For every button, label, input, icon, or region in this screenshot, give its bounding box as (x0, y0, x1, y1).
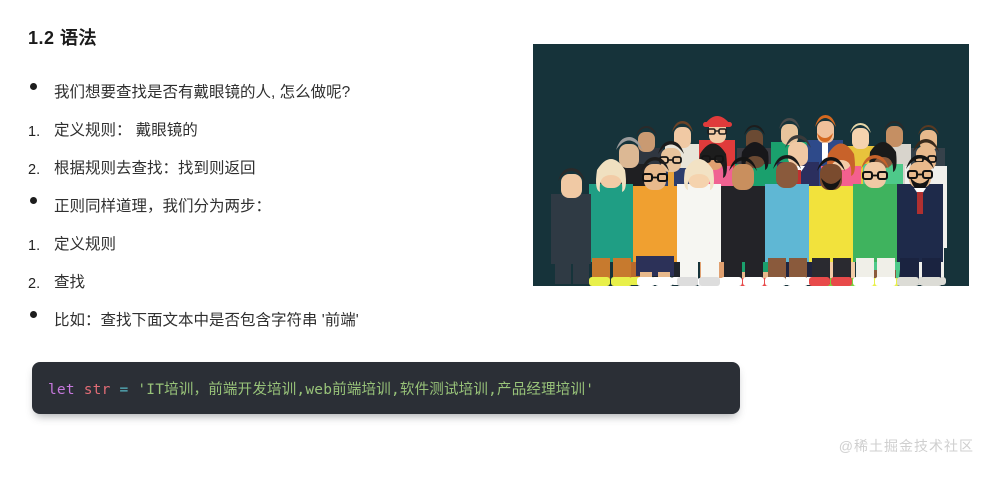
list-item-number: 2. (28, 272, 54, 295)
list-item-text: 比如：查找下面文本中是否包含字符串 '前端' (54, 310, 359, 332)
list-item: 1. 定义规则 (28, 234, 508, 272)
list-item-text: 正则同样道理，我们分为两步： (54, 196, 271, 218)
bullet-dot-icon (28, 196, 54, 204)
page-title: 1.2 语法 (28, 24, 97, 50)
list-item-text: 定义规则： 戴眼镜的 (54, 120, 198, 142)
list-item: 2. 查找 (28, 272, 508, 310)
list-item: 我们想要查找是否有戴眼镜的人, 怎么做呢? (28, 82, 508, 120)
code-token-space (128, 382, 137, 398)
list-item-text: 根据规则去查找：找到则返回 (54, 158, 256, 180)
crowd-illustration-svg (533, 44, 969, 286)
list-item: 2. 根据规则去查找：找到则返回 (28, 158, 508, 196)
list-item: 1. 定义规则： 戴眼镜的 (28, 120, 508, 158)
code-token-string: 'IT培训，前端开发培训,web前端培训,软件测试培训,产品经理培训' (137, 382, 594, 398)
list-item-text: 我们想要查找是否有戴眼镜的人, 怎么做呢? (54, 82, 350, 104)
list-item-text: 定义规则 (54, 234, 116, 256)
code-block[interactable]: let str = 'IT培训，前端开发培训,web前端培训,软件测试培训,产品… (32, 362, 740, 414)
code-token-space (75, 382, 84, 398)
list-item: 比如：查找下面文本中是否包含字符串 '前端' (28, 310, 508, 348)
bullet-dot-icon (28, 310, 54, 318)
list-item-number: 1. (28, 234, 54, 257)
content-list: 我们想要查找是否有戴眼镜的人, 怎么做呢? 1. 定义规则： 戴眼镜的 2. 根… (28, 82, 508, 348)
list-item-number: 1. (28, 120, 54, 143)
bullet-dot-icon (28, 82, 54, 90)
list-item-number: 2. (28, 158, 54, 181)
crowd-illustration (533, 44, 969, 286)
list-item: 正则同样道理，我们分为两步： (28, 196, 508, 234)
code-token-keyword: let (48, 382, 75, 398)
crowd-front-row (551, 155, 943, 286)
code-token-variable: str (84, 382, 111, 398)
list-item-text: 查找 (54, 272, 85, 294)
watermark: @稀土掘金技术社区 (839, 436, 974, 456)
code-line: let str = 'IT培训，前端开发培训,web前端培训,软件测试培训,产品… (48, 378, 594, 399)
